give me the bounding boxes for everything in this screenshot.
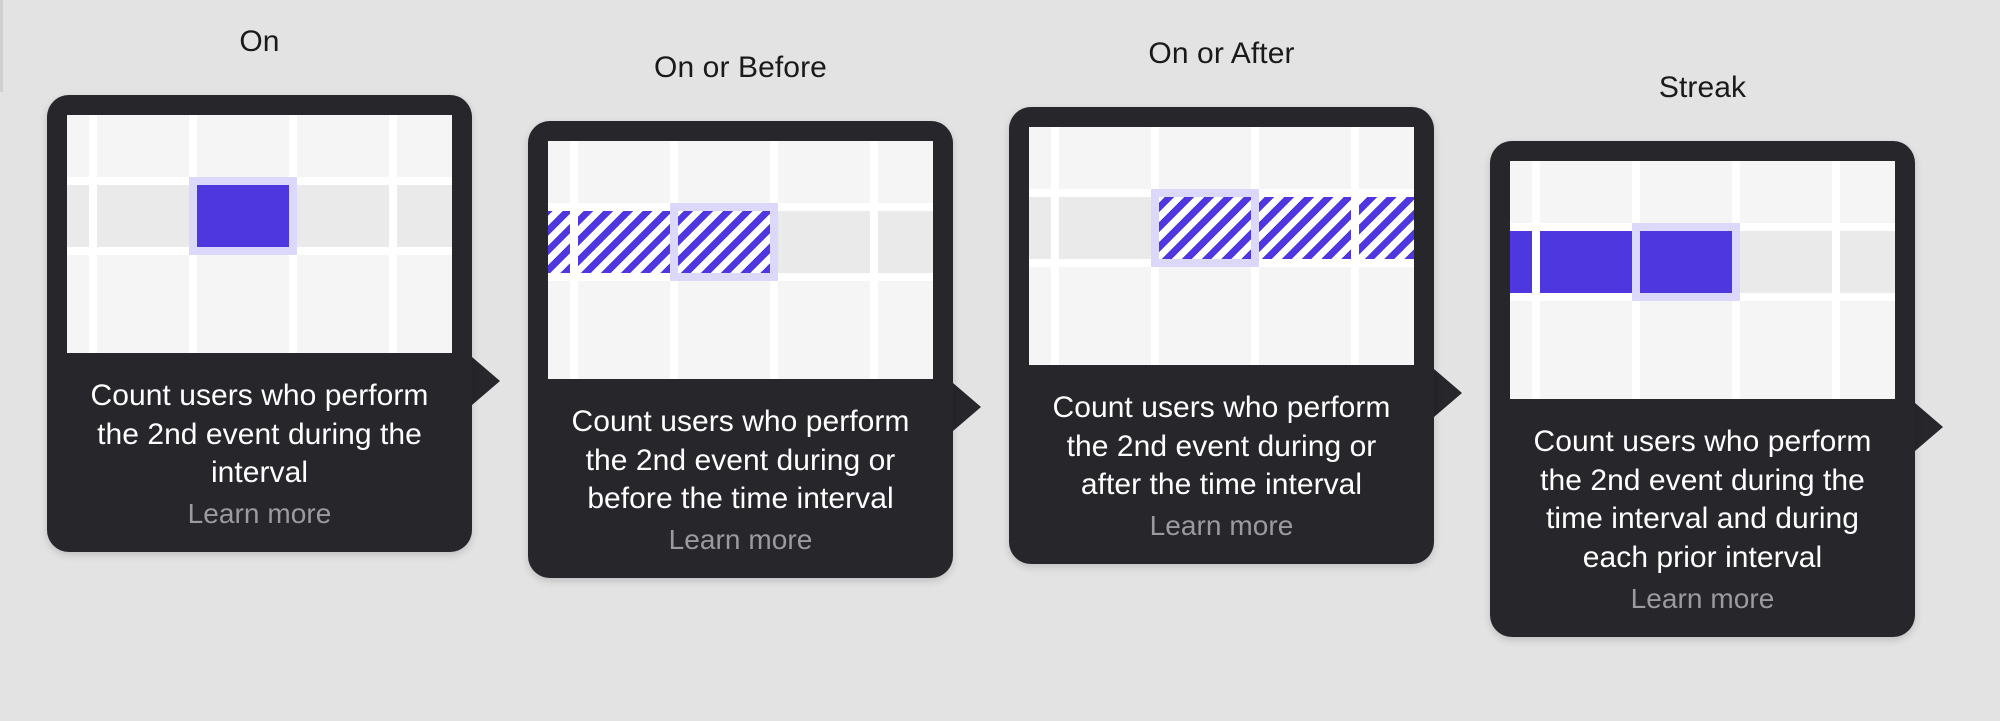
grid-cell xyxy=(1059,127,1151,189)
grid-cell xyxy=(97,185,189,247)
grid-cell xyxy=(67,255,89,353)
grid-cell xyxy=(67,185,89,247)
card-description: Count users who perform the 2nd event du… xyxy=(67,353,452,493)
card-wrapper: Count users who perform the 2nd event du… xyxy=(1009,107,1434,564)
grid-cell xyxy=(1359,267,1414,365)
card-wrapper: Count users who perform the 2nd event du… xyxy=(528,121,953,578)
grid-cell xyxy=(1029,127,1051,189)
card-wrapper: Count users who perform the 2nd event du… xyxy=(47,95,472,552)
grid-cell xyxy=(1029,197,1051,259)
grid-cell-highlighted xyxy=(1151,189,1259,267)
grid-cell xyxy=(1029,267,1051,365)
grid-cell xyxy=(297,255,389,353)
learn-more-link[interactable]: Learn more xyxy=(1510,578,1895,617)
learn-more-link[interactable]: Learn more xyxy=(1029,505,1414,544)
grid-cell xyxy=(1640,161,1732,223)
learn-more-link[interactable]: Learn more xyxy=(548,519,933,558)
mini-grid xyxy=(1029,127,1414,365)
grid-cell xyxy=(778,281,870,379)
grid-cell-marked xyxy=(578,211,670,273)
option-column-1: OnCount users who perform the 2nd event … xyxy=(47,0,472,552)
diagram-screen xyxy=(67,115,452,353)
diagram-screen xyxy=(1029,127,1414,365)
grid-cell xyxy=(1159,267,1251,365)
column-title: On or After xyxy=(1009,12,1434,69)
grid-cell xyxy=(678,141,770,203)
option-column-3: On or AfterCount users who perform the 2… xyxy=(1009,12,1434,564)
diagram-screen xyxy=(1510,161,1895,399)
grid-cell xyxy=(397,255,452,353)
grid-cell xyxy=(878,211,933,273)
grid-cell xyxy=(1259,267,1351,365)
card-description: Count users who perform the 2nd event du… xyxy=(1510,399,1895,578)
grid-cell xyxy=(778,211,870,273)
grid-cell xyxy=(97,115,189,177)
column-title: On or Before xyxy=(528,26,953,83)
grid-cell-highlighted xyxy=(670,203,778,281)
column-title: On xyxy=(47,0,472,57)
grid-cell xyxy=(197,255,289,353)
grid-cell xyxy=(1540,161,1632,223)
card-arrow-tail xyxy=(1434,369,1462,417)
grid-cell xyxy=(1359,127,1414,189)
grid-cell xyxy=(1640,301,1732,399)
card-arrow-tail xyxy=(472,357,500,405)
grid-cell-highlight-fill xyxy=(1640,231,1732,293)
grid-cell xyxy=(67,115,89,177)
grid-cell xyxy=(548,281,570,379)
grid-cell xyxy=(1740,301,1832,399)
grid-cell xyxy=(1159,127,1251,189)
grid-cell xyxy=(1840,161,1895,223)
card-arrow-tail xyxy=(1915,403,1943,451)
option-card[interactable]: Count users who perform the 2nd event du… xyxy=(528,121,953,578)
grid-cell xyxy=(297,115,389,177)
grid-cell-highlight-fill xyxy=(678,211,770,273)
grid-cell-marked xyxy=(1540,231,1632,293)
option-column-4: StreakCount users who perform the 2nd ev… xyxy=(1490,46,1915,637)
diagram-screen xyxy=(548,141,933,379)
grid-cell xyxy=(1510,301,1532,399)
grid-cell xyxy=(578,141,670,203)
grid-cell xyxy=(1259,127,1351,189)
grid-cell xyxy=(397,115,452,177)
grid-cell xyxy=(397,185,452,247)
card-arrow-tail xyxy=(953,383,981,431)
card-description: Count users who perform the 2nd event du… xyxy=(1029,365,1414,505)
card-description: Count users who perform the 2nd event du… xyxy=(548,379,933,519)
grid-cell-highlight-fill xyxy=(1159,197,1251,259)
grid-cell xyxy=(1510,161,1532,223)
grid-cell-highlighted xyxy=(189,177,297,255)
grid-cell-highlighted xyxy=(1632,223,1740,301)
grid-cell xyxy=(778,141,870,203)
option-card[interactable]: Count users who perform the 2nd event du… xyxy=(1490,141,1915,637)
card-wrapper: Count users who perform the 2nd event du… xyxy=(1490,141,1915,637)
grid-cell xyxy=(97,255,189,353)
attribution-window-options: OnCount users who perform the 2nd event … xyxy=(0,0,2000,721)
option-card[interactable]: Count users who perform the 2nd event du… xyxy=(47,95,472,552)
column-title: Streak xyxy=(1490,46,1915,103)
option-card[interactable]: Count users who perform the 2nd event du… xyxy=(1009,107,1434,564)
grid-cell xyxy=(1740,231,1832,293)
grid-cell xyxy=(1540,301,1632,399)
grid-cell xyxy=(1840,231,1895,293)
grid-cell-marked xyxy=(1359,197,1414,259)
grid-cell xyxy=(1740,161,1832,223)
grid-cell xyxy=(578,281,670,379)
grid-cell xyxy=(297,185,389,247)
grid-cell xyxy=(878,141,933,203)
grid-cell-marked xyxy=(1510,231,1532,293)
option-column-2: On or BeforeCount users who perform the … xyxy=(528,26,953,578)
grid-cell xyxy=(678,281,770,379)
grid-cell xyxy=(197,115,289,177)
learn-more-link[interactable]: Learn more xyxy=(67,493,452,532)
grid-cell-marked xyxy=(548,211,570,273)
mini-grid xyxy=(548,141,933,379)
grid-cell xyxy=(1059,267,1151,365)
mini-grid xyxy=(1510,161,1895,399)
grid-cell xyxy=(1059,197,1151,259)
grid-cell xyxy=(878,281,933,379)
mini-grid xyxy=(67,115,452,353)
grid-cell xyxy=(548,141,570,203)
grid-cell-highlight-fill xyxy=(197,185,289,247)
grid-cell-marked xyxy=(1259,197,1351,259)
grid-cell xyxy=(1840,301,1895,399)
